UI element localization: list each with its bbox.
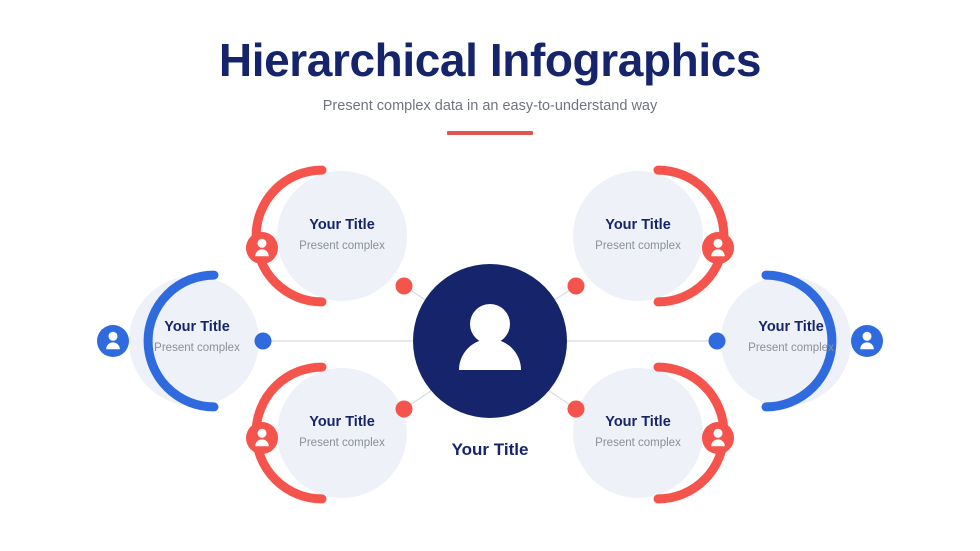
- node-bottom-right-badge-circle: [702, 422, 734, 454]
- node-bottom-left-connector-dot: [396, 401, 413, 418]
- node-top-left[interactable]: [246, 170, 413, 302]
- node-left-icon-badge[interactable]: [97, 325, 129, 357]
- node-top-left-disc: [277, 171, 407, 301]
- title-underline-accent: [447, 131, 533, 135]
- node-top-right-disc: [573, 171, 703, 301]
- node-left-badge-circle: [97, 325, 129, 357]
- center-hub[interactable]: [413, 264, 567, 418]
- page-title: Hierarchical Infographics: [0, 36, 980, 86]
- diagram-canvas: [0, 146, 980, 551]
- node-top-left-icon-badge[interactable]: [246, 232, 278, 264]
- page-subtitle: Present complex data in an easy-to-under…: [0, 98, 980, 115]
- node-bottom-right-connector-dot: [568, 401, 585, 418]
- node-bottom-right[interactable]: [568, 367, 735, 499]
- node-left-connector-dot: [255, 333, 272, 350]
- node-left[interactable]: [97, 275, 272, 407]
- node-top-right-badge-circle: [702, 232, 734, 264]
- node-bottom-right-icon-badge[interactable]: [702, 422, 734, 454]
- node-bottom-left-badge-circle: [246, 422, 278, 454]
- node-bottom-left-disc: [277, 368, 407, 498]
- node-right-connector-dot: [709, 333, 726, 350]
- node-top-left-connector-dot: [396, 278, 413, 295]
- node-top-right-connector-dot: [568, 278, 585, 295]
- node-bottom-right-disc: [573, 368, 703, 498]
- node-right-badge-circle: [851, 325, 883, 357]
- node-top-left-badge-circle: [246, 232, 278, 264]
- node-top-right-icon-badge[interactable]: [702, 232, 734, 264]
- page-header: Hierarchical Infographics Present comple…: [0, 36, 980, 135]
- node-bottom-left-icon-badge[interactable]: [246, 422, 278, 454]
- hierarchy-diagram: Your Title Present complex Your Title Pr…: [0, 146, 980, 551]
- node-bottom-left[interactable]: [246, 367, 413, 499]
- node-top-right[interactable]: [568, 170, 735, 302]
- node-right[interactable]: [709, 275, 884, 407]
- node-right-icon-badge[interactable]: [851, 325, 883, 357]
